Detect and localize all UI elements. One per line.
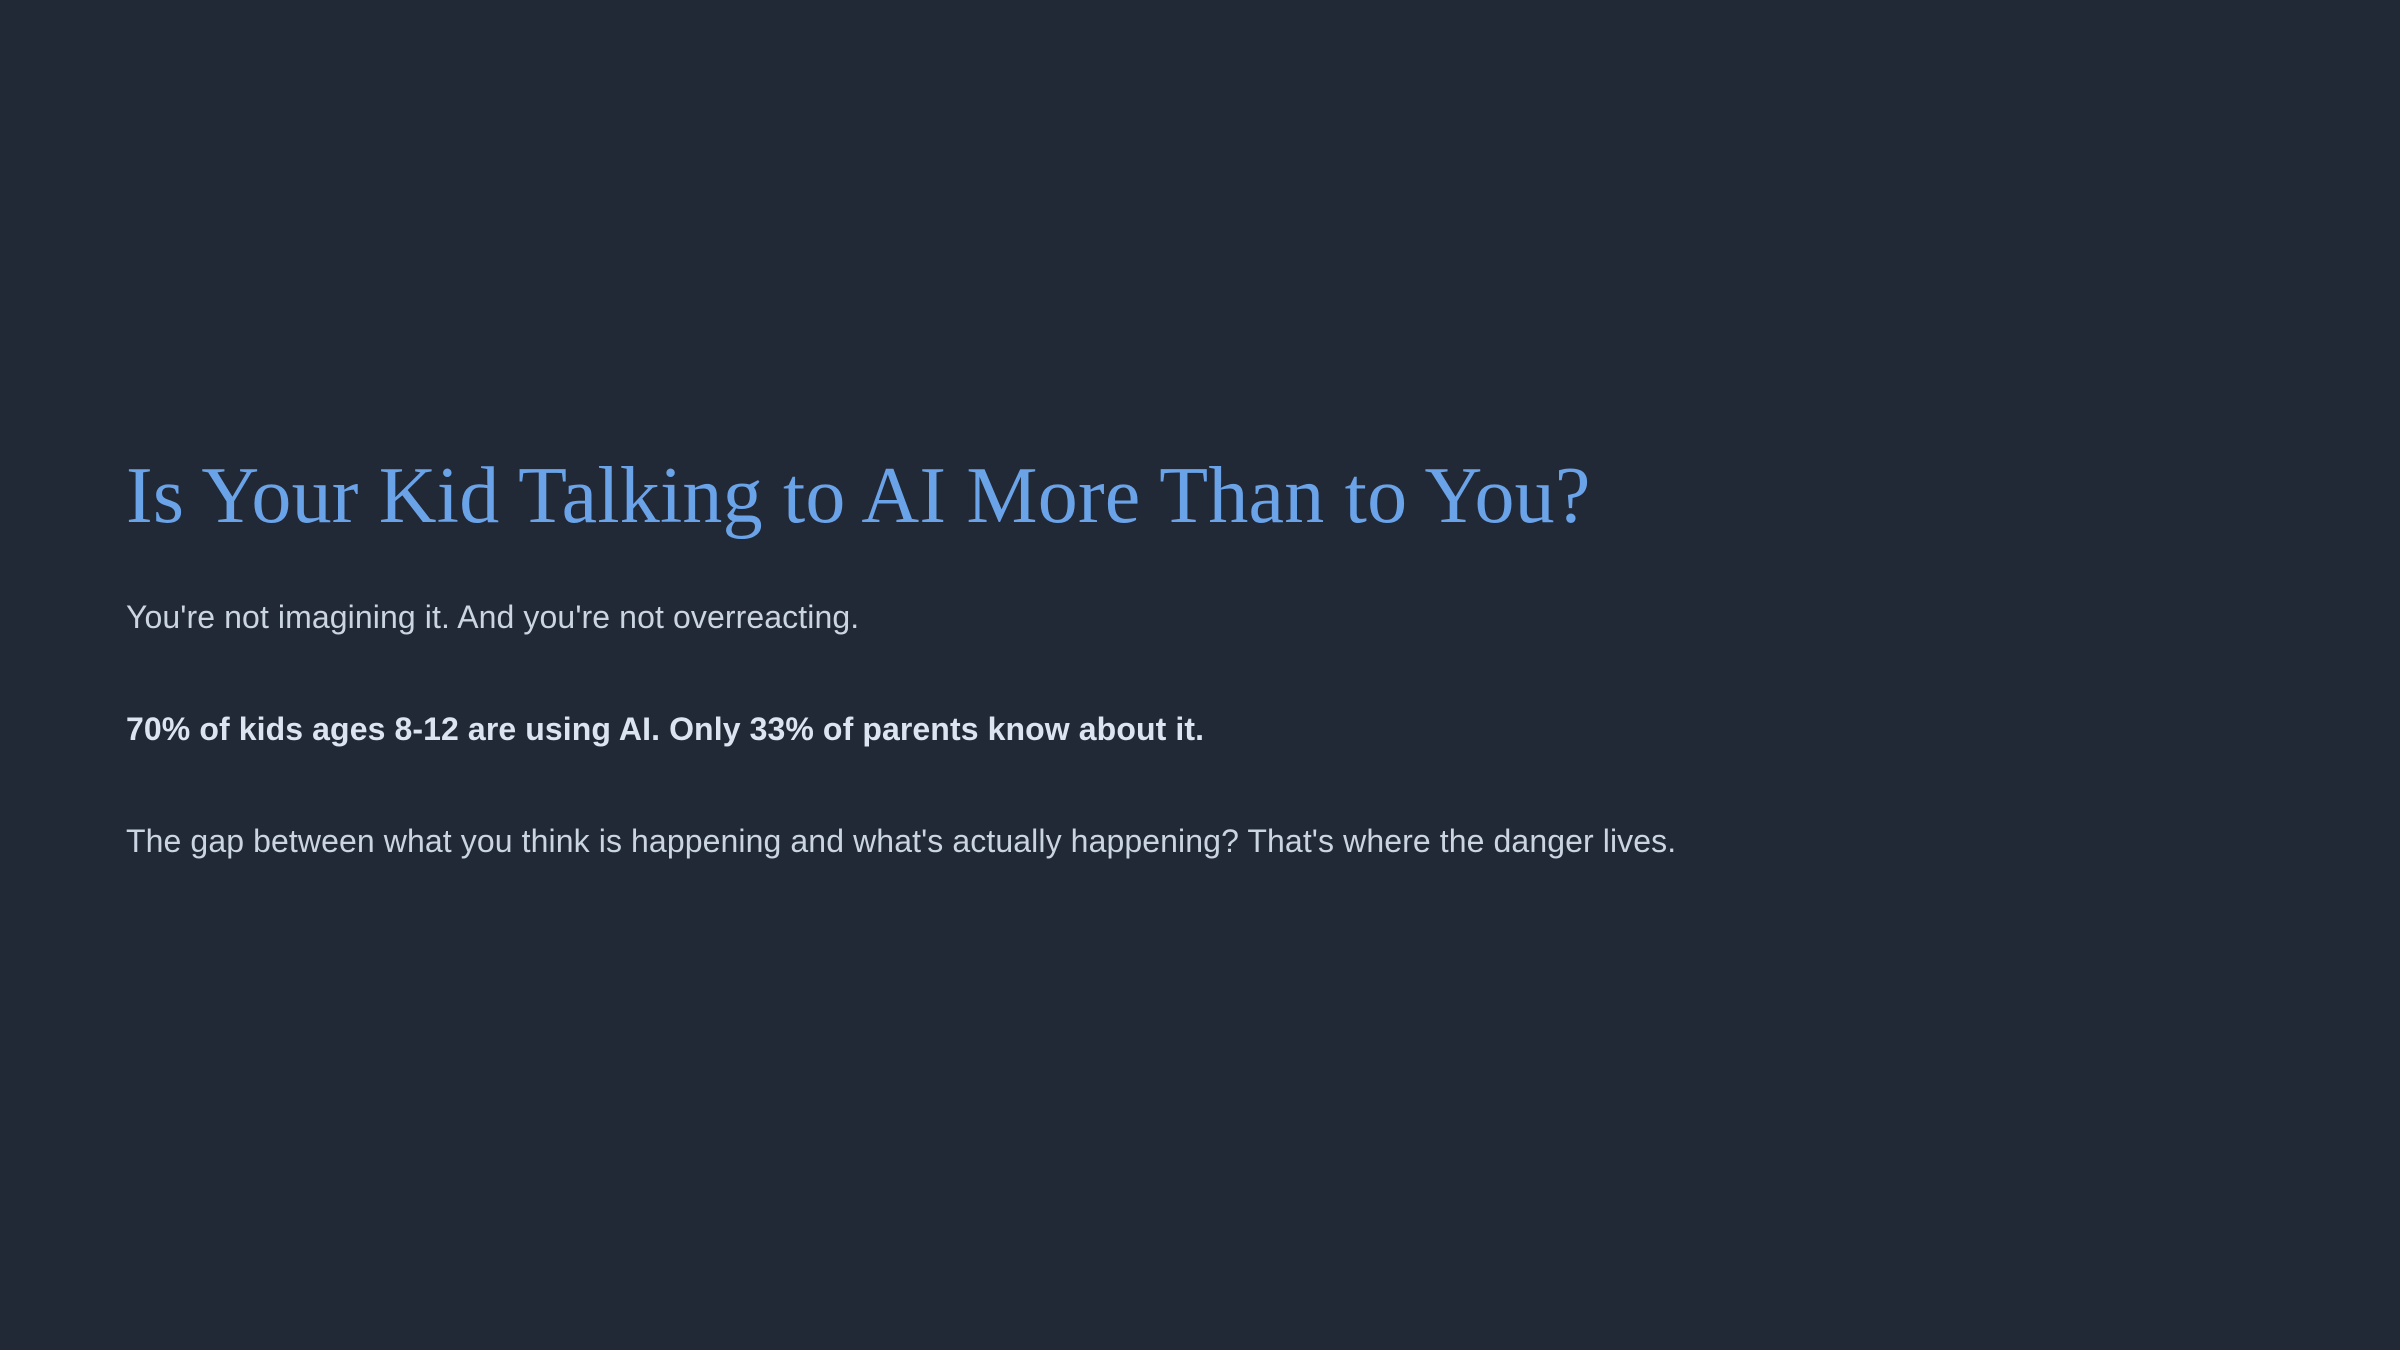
slide-canvas: Is Your Kid Talking to AI More Than to Y… [0, 0, 2400, 1350]
slide-content: Is Your Kid Talking to AI More Than to Y… [126, 452, 2286, 865]
body-paragraph-intro: You're not imagining it. And you're not … [126, 594, 2286, 640]
body-paragraph-conclusion: The gap between what you think is happen… [126, 818, 2286, 864]
body-paragraph-statistic: 70% of kids ages 8-12 are using AI. Only… [126, 706, 2286, 752]
page-title: Is Your Kid Talking to AI More Than to Y… [126, 452, 2286, 542]
slide-body: You're not imagining it. And you're not … [126, 594, 2286, 865]
